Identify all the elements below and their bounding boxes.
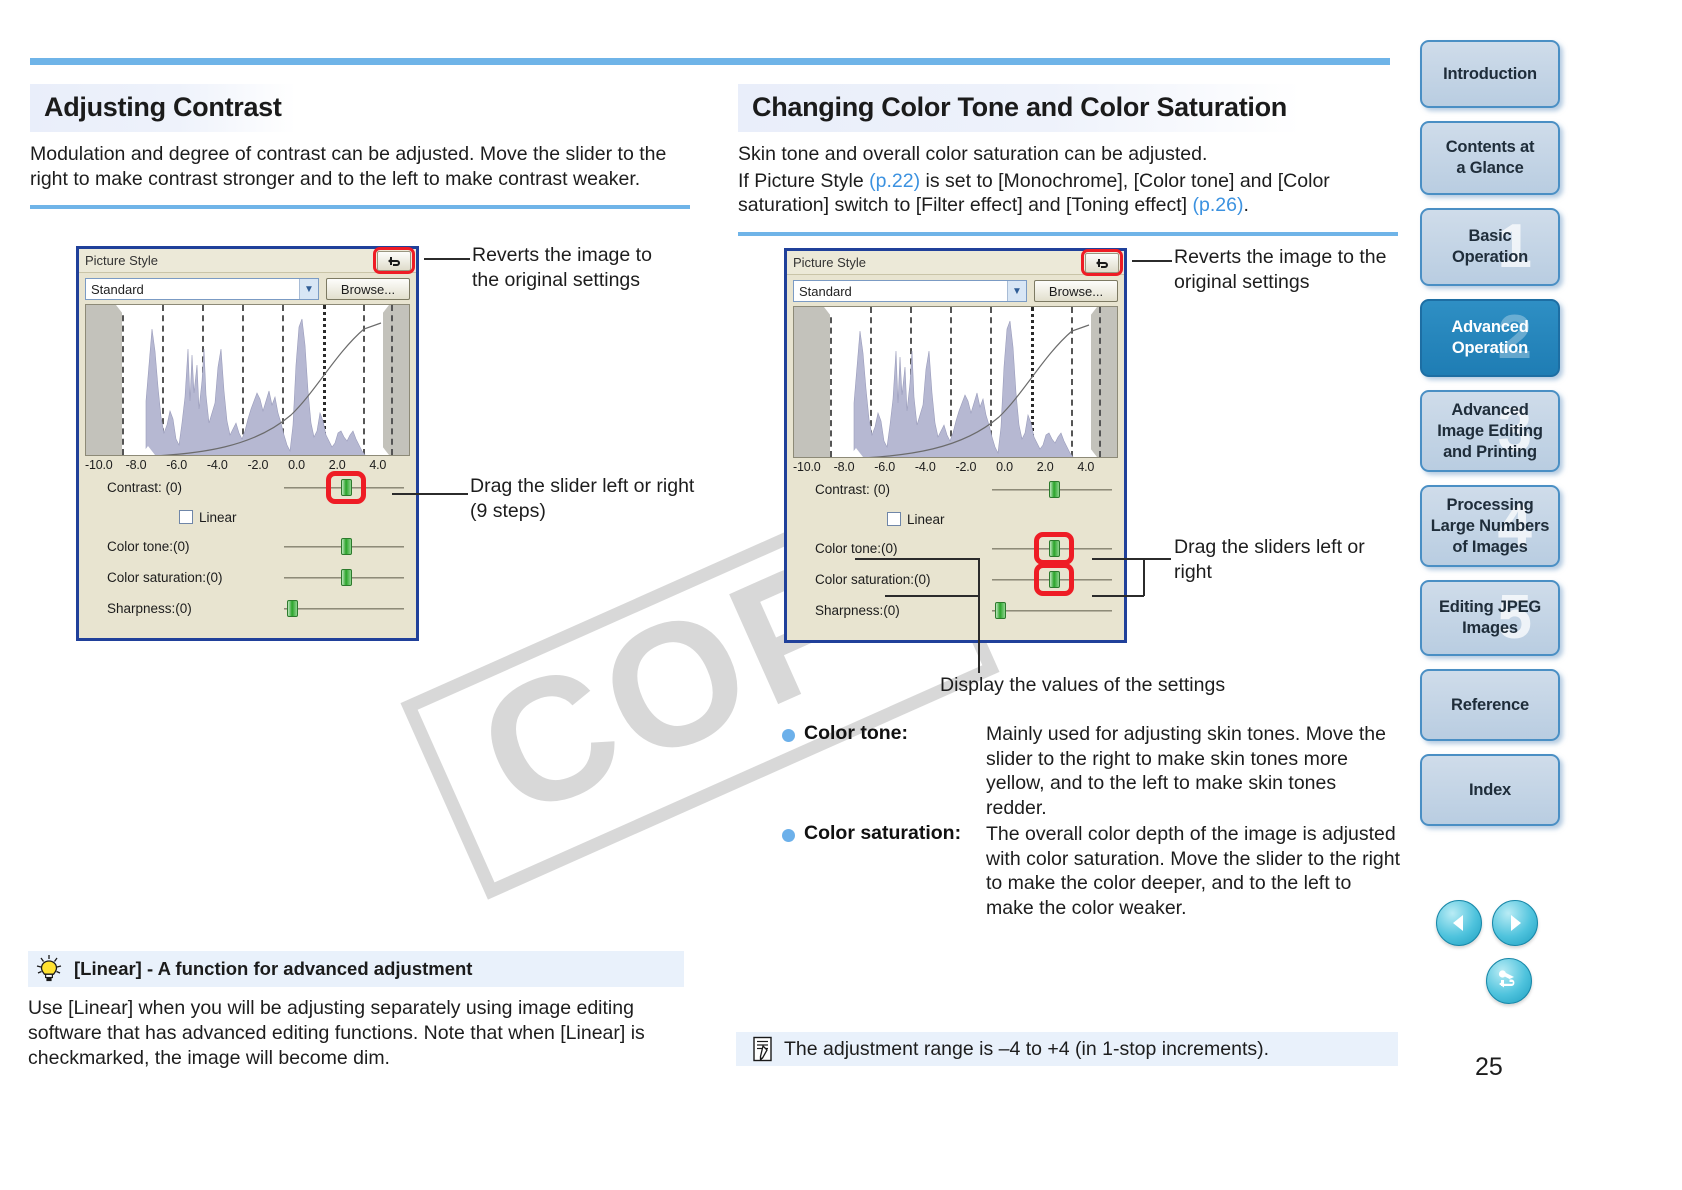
- previous-page-button[interactable]: [1436, 900, 1482, 946]
- histogram-plot: [794, 307, 1118, 458]
- chevron-down-icon[interactable]: ▼: [1007, 281, 1026, 301]
- sharpness-slider-track[interactable]: [992, 610, 1112, 612]
- axis-tick: -8.0: [126, 458, 167, 472]
- color-tone-highlight-ring: [1034, 532, 1074, 565]
- sidebar-item-label: Reference: [1451, 695, 1529, 716]
- right-intro-a: If Picture Style: [738, 170, 869, 192]
- sidebar-item-reference[interactable]: Reference: [1420, 669, 1560, 741]
- picture-style-value: Standard: [91, 282, 144, 297]
- sidebar-item-editing-jpeg-images[interactable]: 5 Editing JPEG Images: [1420, 580, 1560, 656]
- page-title-right: Changing Color Tone and Color Saturation: [738, 84, 1301, 132]
- axis-tick: -8.0: [834, 460, 875, 474]
- dialog-titlebar: Picture Style: [79, 249, 416, 273]
- dialog-title-label: Picture Style: [85, 253, 158, 268]
- notepad-icon: [752, 1036, 774, 1062]
- browse-button[interactable]: Browse...: [1034, 280, 1118, 302]
- axis-tick: 2.0: [1037, 460, 1078, 474]
- contrast-slider-row[interactable]: Contrast: (0): [79, 472, 416, 503]
- sidebar-item-label: Advanced Image Editing and Printing: [1437, 400, 1543, 463]
- link-p22[interactable]: (p.22): [869, 170, 920, 192]
- style-select-row: Standard ▼ Browse...: [79, 273, 416, 304]
- sidebar-item-label: Editing JPEG Images: [1439, 597, 1541, 639]
- revert-highlight-ring: [1081, 249, 1123, 276]
- picture-style-value: Standard: [799, 284, 852, 299]
- callout-revert-right: Reverts the image to the original settin…: [1174, 245, 1389, 294]
- axis-tick: 0.0: [288, 458, 329, 472]
- sidebar-item-label: Index: [1469, 780, 1511, 801]
- bullet-description: The overall color depth of the image is …: [986, 822, 1401, 920]
- top-rule: [30, 58, 1390, 65]
- right-column: Changing Color Tone and Color Saturation…: [738, 84, 1398, 236]
- bullet-term: Color saturation:: [804, 822, 986, 920]
- picture-style-select[interactable]: Standard ▼: [85, 278, 319, 300]
- linear-checkbox-row[interactable]: Linear: [787, 505, 1124, 533]
- return-icon: [1496, 969, 1522, 993]
- list-item: Color saturation: The overall color dept…: [782, 822, 1402, 920]
- color-tone-slider-thumb[interactable]: [341, 538, 352, 555]
- axis-tick: -10.0: [793, 460, 834, 474]
- bullet-description: Mainly used for adjusting skin tones. Mo…: [986, 722, 1401, 820]
- linear-checkbox[interactable]: [179, 510, 193, 524]
- manual-page: COPY Adjusting Contrast Modulation and d…: [0, 0, 1682, 1190]
- sidebar-item-advanced-image-editing-and-printing[interactable]: 3 Advanced Image Editing and Printing: [1420, 390, 1560, 472]
- link-p26[interactable]: (p.26): [1193, 194, 1244, 216]
- callout-drag-right: Drag the sliders left or right: [1174, 535, 1394, 584]
- contrast-slider-thumb[interactable]: [1049, 481, 1060, 498]
- color-saturation-slider-row[interactable]: Color saturation:(0): [787, 564, 1124, 595]
- sharpness-slider-row[interactable]: Sharpness:(0): [787, 595, 1124, 626]
- color-saturation-label: Color saturation:(0): [107, 570, 223, 585]
- color-saturation-highlight-ring: [1034, 563, 1074, 596]
- axis-tick: -4.0: [207, 458, 248, 472]
- tone-curve-histogram[interactable]: [793, 306, 1118, 458]
- color-tone-label: Color tone:(0): [815, 541, 898, 556]
- axis-tick: -4.0: [915, 460, 956, 474]
- picture-style-select[interactable]: Standard ▼: [793, 280, 1027, 302]
- sidebar-item-advanced-operation[interactable]: 2 Advanced Operation: [1420, 299, 1560, 377]
- color-saturation-slider-row[interactable]: Color saturation:(0): [79, 562, 416, 593]
- return-button[interactable]: [1486, 958, 1532, 1004]
- callout-revert-left: Reverts the image to the original settin…: [472, 243, 682, 292]
- next-page-icon: [1504, 912, 1526, 934]
- bullet-term: Color tone:: [804, 722, 986, 820]
- left-column: Adjusting Contrast Modulation and degree…: [30, 84, 690, 209]
- axis-tick: -2.0: [248, 458, 289, 472]
- color-saturation-label: Color saturation:(0): [815, 572, 931, 587]
- color-saturation-slider-thumb[interactable]: [341, 569, 352, 586]
- dialog-titlebar: Picture Style: [787, 251, 1124, 275]
- browse-button[interactable]: Browse...: [326, 278, 410, 300]
- right-intro-c: .: [1243, 194, 1248, 216]
- callout-values: Display the values of the settings: [940, 673, 1260, 698]
- note-text: The adjustment range is –4 to +4 (in 1-s…: [784, 1038, 1269, 1061]
- tip-box: [Linear] - A function for advanced adjus…: [28, 951, 684, 987]
- sharpness-slider-thumb[interactable]: [995, 602, 1006, 619]
- chevron-down-icon[interactable]: ▼: [299, 279, 318, 299]
- axis-tick: 0.0: [996, 460, 1037, 474]
- axis-tick: 4.0: [1077, 460, 1118, 474]
- contrast-label: Contrast: (0): [107, 480, 182, 495]
- sidebar-item-basic-operation[interactable]: 1 Basic Operation: [1420, 208, 1560, 286]
- axis-tick: 4.0: [369, 458, 410, 472]
- sidebar-item-introduction[interactable]: Introduction: [1420, 40, 1560, 108]
- page-title-left: Adjusting Contrast: [30, 84, 296, 132]
- callout-drag-left: Drag the slider left or right (9 steps): [470, 474, 700, 523]
- page-number: 25: [1475, 1053, 1503, 1082]
- revert-highlight-ring: [373, 247, 415, 274]
- histogram-axis: -10.0 -8.0 -6.0 -4.0 -2.0 0.0 2.0 4.0: [793, 460, 1118, 474]
- tip-body: Use [Linear] when you will be adjusting …: [28, 996, 698, 1071]
- list-item: Color tone: Mainly used for adjusting sk…: [782, 722, 1402, 820]
- lightbulb-icon: [34, 954, 64, 984]
- sidebar-item-label: Basic Operation: [1452, 226, 1528, 268]
- axis-tick: -6.0: [874, 460, 915, 474]
- bullet-list: Color tone: Mainly used for adjusting sk…: [782, 722, 1402, 922]
- tone-curve-histogram[interactable]: [85, 304, 410, 456]
- contrast-slider-row[interactable]: Contrast: (0): [787, 474, 1124, 505]
- sidebar-item-index[interactable]: Index: [1420, 754, 1560, 826]
- color-tone-label: Color tone:(0): [107, 539, 190, 554]
- sidebar-item-label: Contents at a Glance: [1446, 137, 1535, 179]
- linear-label: Linear: [199, 510, 237, 525]
- tip-title: [Linear] - A function for advanced adjus…: [74, 958, 472, 980]
- page-nav-buttons: [1436, 900, 1538, 1004]
- sidebar-item-label: Advanced Operation: [1451, 317, 1528, 359]
- right-divider: [738, 232, 1398, 236]
- sidebar-item-processing-large-numbers-of-images[interactable]: 4 Processing Large Numbers of Images: [1420, 485, 1560, 567]
- sharpness-slider-thumb[interactable]: [287, 600, 298, 617]
- picture-style-dialog-right[interactable]: Picture Style Standard ▼ Browse...: [784, 248, 1127, 643]
- previous-page-icon: [1448, 912, 1470, 934]
- histogram-plot: [86, 305, 410, 456]
- sharpness-slider-row[interactable]: Sharpness:(0): [79, 593, 416, 624]
- style-select-row: Standard ▼ Browse...: [787, 275, 1124, 306]
- sharpness-label: Sharpness:(0): [107, 601, 192, 616]
- sidebar-item-label: Introduction: [1443, 64, 1537, 85]
- left-intro-text: Modulation and degree of contrast can be…: [30, 142, 690, 191]
- dialog-title-label: Picture Style: [793, 255, 866, 270]
- bullet-dot-icon: [782, 729, 795, 742]
- sidebar-nav: Introduction Contents at a Glance 1 Basi…: [1420, 40, 1562, 839]
- histogram-axis: -10.0 -8.0 -6.0 -4.0 -2.0 0.0 2.0 4.0: [85, 458, 410, 472]
- right-intro-line1: Skin tone and overall color saturation c…: [738, 142, 1398, 167]
- linear-checkbox-row[interactable]: Linear: [79, 503, 416, 531]
- axis-tick: 2.0: [329, 458, 370, 472]
- sharpness-slider-track[interactable]: [284, 608, 404, 610]
- linear-checkbox[interactable]: [887, 512, 901, 526]
- color-tone-slider-row[interactable]: Color tone:(0): [79, 531, 416, 562]
- axis-tick: -2.0: [956, 460, 997, 474]
- sharpness-label: Sharpness:(0): [815, 603, 900, 618]
- axis-tick: -6.0: [166, 458, 207, 472]
- sidebar-item-label: Processing Large Numbers of Images: [1431, 495, 1549, 558]
- left-divider: [30, 205, 690, 209]
- right-intro-line2: If Picture Style (p.22) is set to [Monoc…: [738, 169, 1398, 218]
- bullet-dot-icon: [782, 829, 795, 842]
- axis-tick: -10.0: [85, 458, 126, 472]
- sidebar-item-contents-at-a-glance[interactable]: Contents at a Glance: [1420, 121, 1560, 195]
- contrast-label: Contrast: (0): [815, 482, 890, 497]
- next-page-button[interactable]: [1492, 900, 1538, 946]
- linear-label: Linear: [907, 512, 945, 527]
- picture-style-dialog-left[interactable]: Picture Style Standard ▼ Browse...: [76, 246, 419, 641]
- contrast-highlight-ring: [326, 471, 366, 504]
- note-box: The adjustment range is –4 to +4 (in 1-s…: [736, 1032, 1398, 1066]
